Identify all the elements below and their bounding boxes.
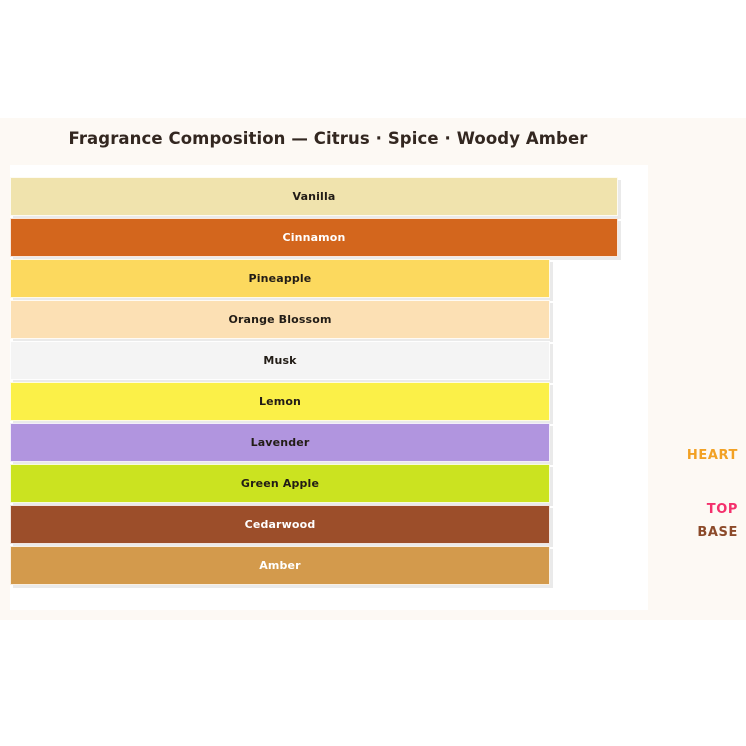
bar-row: Pineapple <box>10 259 553 300</box>
bar-row: Lavender <box>10 423 553 464</box>
legend-entry-base[interactable]: BASE <box>697 525 738 540</box>
bar-row: Vanilla <box>10 177 621 218</box>
bar-green-apple[interactable]: Green Apple <box>10 464 550 503</box>
bar-label: Amber <box>259 559 300 572</box>
legend-entry-heart[interactable]: HEART <box>687 448 738 463</box>
bar-row: Lemon <box>10 382 553 423</box>
legend-entry-top[interactable]: TOP <box>707 502 738 517</box>
bar-label: Cedarwood <box>245 518 316 531</box>
bar-row: Musk <box>10 341 553 382</box>
bar-orange-blossom[interactable]: Orange Blossom <box>10 300 550 339</box>
chart-figure: Fragrance Composition — Citrus · Spice ·… <box>0 118 746 620</box>
bar-row: Cedarwood <box>10 505 553 546</box>
bar-lemon[interactable]: Lemon <box>10 382 550 421</box>
bar-label: Vanilla <box>293 190 336 203</box>
legend: HEARTTOPBASE <box>648 165 746 610</box>
bar-label: Cinnamon <box>283 231 346 244</box>
bar-row: Cinnamon <box>10 218 621 259</box>
bar-label: Musk <box>263 354 296 367</box>
bar-pineapple[interactable]: Pineapple <box>10 259 550 298</box>
bar-label: Green Apple <box>241 477 319 490</box>
bar-label: Orange Blossom <box>228 313 331 326</box>
bar-amber[interactable]: Amber <box>10 546 550 585</box>
bar-lavender[interactable]: Lavender <box>10 423 550 462</box>
bar-cinnamon[interactable]: Cinnamon <box>10 218 618 257</box>
plot-area: VanillaCinnamonPineappleOrange BlossomMu… <box>10 165 648 610</box>
bar-series: VanillaCinnamonPineappleOrange BlossomMu… <box>10 165 648 610</box>
page-title: Fragrance Composition — Citrus · Spice ·… <box>0 129 656 148</box>
bar-vanilla[interactable]: Vanilla <box>10 177 618 216</box>
bar-row: Amber <box>10 546 553 587</box>
bar-label: Lavender <box>251 436 310 449</box>
bar-musk[interactable]: Musk <box>10 341 550 380</box>
bar-cedarwood[interactable]: Cedarwood <box>10 505 550 544</box>
bar-label: Pineapple <box>249 272 312 285</box>
bar-label: Lemon <box>259 395 301 408</box>
bar-row: Orange Blossom <box>10 300 553 341</box>
bar-row: Green Apple <box>10 464 553 505</box>
